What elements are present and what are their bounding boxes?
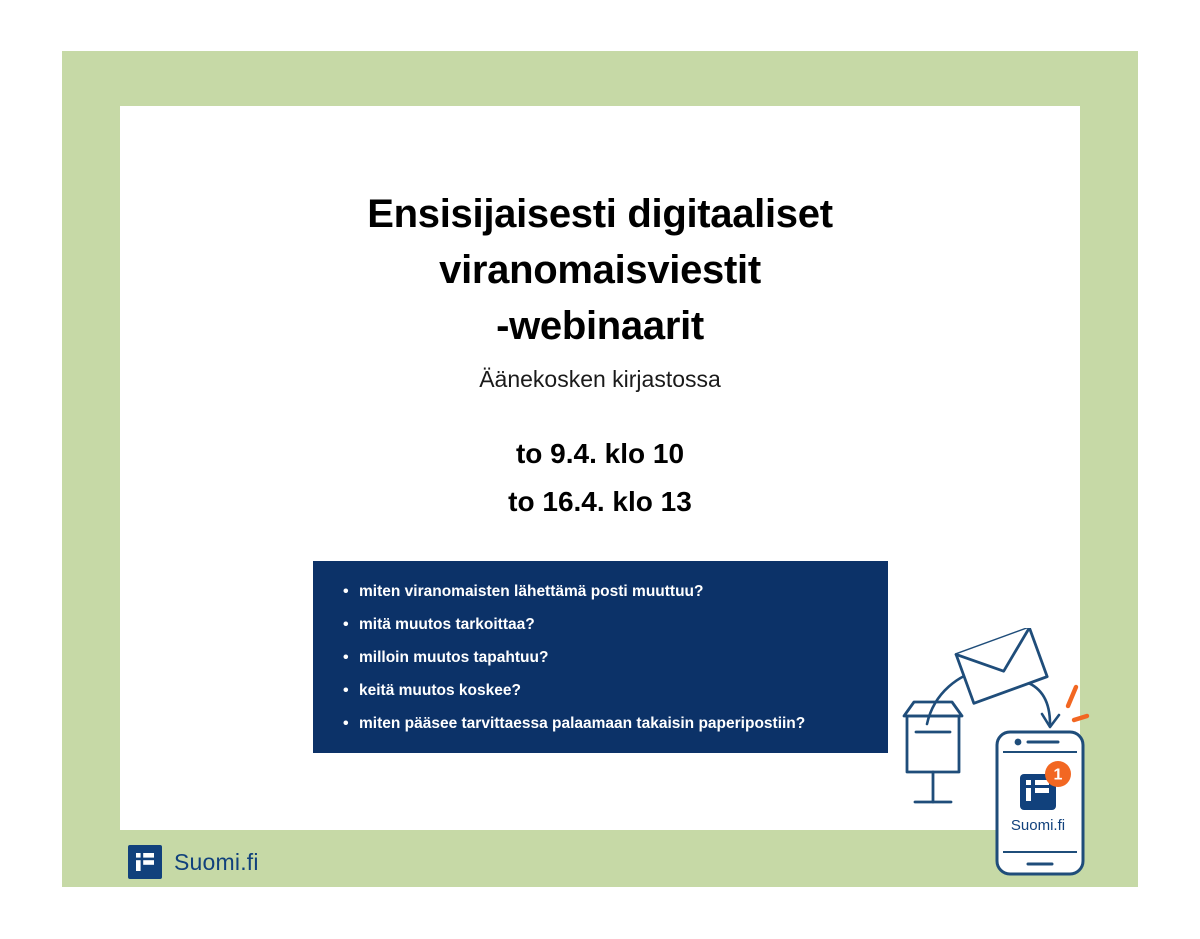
notification-badge: 1 <box>1045 761 1071 787</box>
suomi-fi-logo-lockup: Suomi.fi <box>128 845 259 879</box>
event-date-2: to 16.4. klo 13 <box>120 478 1080 526</box>
bullet-icon: • <box>343 641 359 674</box>
question-text: keitä muutos koskee? <box>359 674 862 707</box>
question-text: milloin muutos tapahtuu? <box>359 641 862 674</box>
subtitle-location: Äänekosken kirjastossa <box>120 363 1080 395</box>
title-line-2: viranomaisviestit <box>120 242 1080 298</box>
bullet-icon: • <box>343 575 359 608</box>
title-line-3: -webinaarit <box>120 298 1080 354</box>
list-item: • keitä muutos koskee? <box>343 674 862 707</box>
app-label: Suomi.fi <box>1011 817 1065 834</box>
list-item: • miten viranomaisten lähettämä posti mu… <box>343 575 862 608</box>
question-list-box: • miten viranomaisten lähettämä posti mu… <box>313 561 888 753</box>
question-text: miten pääsee tarvittaessa palaamaan taka… <box>359 707 862 740</box>
list-item: • milloin muutos tapahtuu? <box>343 641 862 674</box>
bullet-icon: • <box>343 674 359 707</box>
event-date-1: to 9.4. klo 10 <box>120 430 1080 478</box>
spark-lines-icon <box>1068 687 1087 720</box>
bullet-icon: • <box>343 707 359 740</box>
title-line-1: Ensisijaisesti digitaaliset <box>120 186 1080 242</box>
mail-to-phone-illustration: 1 Suomi.fi <box>890 628 1120 878</box>
mailbox-icon <box>904 702 962 802</box>
slide-root: Ensisijaisesti digitaaliset viranomaisvi… <box>0 0 1200 939</box>
envelope-icon <box>956 628 1047 703</box>
list-item: • mitä muutos tarkoittaa? <box>343 608 862 641</box>
suomi-fi-logo-icon <box>128 845 162 879</box>
question-text: mitä muutos tarkoittaa? <box>359 608 862 641</box>
event-dates: to 9.4. klo 10 to 16.4. klo 13 <box>120 430 1080 526</box>
question-text: miten viranomaisten lähettämä posti muut… <box>359 575 862 608</box>
list-item: • miten pääsee tarvittaessa palaamaan ta… <box>343 707 862 740</box>
page-title: Ensisijaisesti digitaaliset viranomaisvi… <box>120 186 1080 354</box>
suomi-fi-wordmark: Suomi.fi <box>174 845 259 879</box>
badge-count: 1 <box>1054 767 1063 784</box>
bullet-icon: • <box>343 608 359 641</box>
